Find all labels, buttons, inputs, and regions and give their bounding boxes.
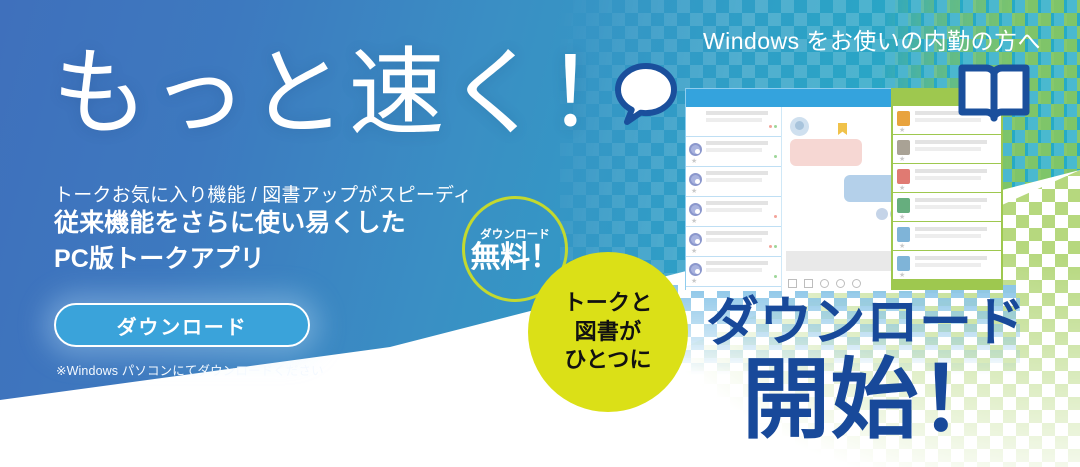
free-badge-large-label: 無料！ bbox=[470, 243, 559, 273]
download-note: ※Windows パソコンにてダウンロードください bbox=[56, 360, 324, 379]
list-item: ★ bbox=[892, 250, 1002, 280]
list-item: ★ bbox=[686, 197, 781, 227]
avatar bbox=[689, 233, 702, 246]
incoming-message-bubble bbox=[790, 139, 862, 166]
list-item: ★ bbox=[892, 221, 1002, 251]
subtitle-description: 従来機能をさらに使い易くした PC版トークアプリ bbox=[54, 206, 406, 277]
list-item: ★ bbox=[686, 137, 781, 167]
lead-text: Windows をお使いの内勤の方へ bbox=[703, 22, 1041, 56]
subtitle-line-1: 従来機能をさらに使い易くした bbox=[54, 206, 406, 242]
app-mockup-window: ★ ★ ★ ★ ★ bbox=[685, 88, 925, 290]
list-item: ★ bbox=[686, 227, 781, 257]
powerpoint-file-icon bbox=[897, 140, 910, 155]
list-item: ★ bbox=[892, 134, 1002, 164]
subtitle-line-2: PC版トークアプリ bbox=[54, 242, 406, 278]
avatar bbox=[689, 143, 702, 156]
excel-file-icon bbox=[897, 198, 910, 213]
emoji-icon[interactable] bbox=[836, 279, 845, 288]
video-icon[interactable] bbox=[804, 279, 813, 288]
combined-badge-line-1: トークと bbox=[564, 289, 653, 318]
list-item bbox=[686, 107, 781, 137]
conversation-list: ★ ★ ★ ★ ★ bbox=[686, 107, 782, 291]
pdf-file-icon bbox=[897, 169, 910, 184]
download-button[interactable]: ダウンロード bbox=[54, 303, 310, 347]
list-item: ★ bbox=[892, 192, 1002, 222]
list-item: ★ bbox=[686, 167, 781, 197]
sticker-icon[interactable] bbox=[852, 279, 861, 288]
composer-toolbar bbox=[788, 279, 861, 288]
list-item: ★ bbox=[892, 163, 1002, 193]
combined-badge: トークと 図書が ひとつに bbox=[528, 252, 688, 412]
open-book-icon bbox=[958, 62, 1030, 124]
avatar bbox=[689, 263, 702, 276]
cta-headline-line-2: 開始！ bbox=[742, 356, 1007, 444]
list-item: ★ bbox=[686, 257, 781, 287]
document-file-icon bbox=[897, 256, 910, 271]
image-icon[interactable] bbox=[788, 279, 797, 288]
combined-badge-line-3: ひとつに bbox=[564, 346, 651, 375]
app-body: ★ ★ ★ ★ ★ bbox=[686, 107, 924, 291]
speech-bubble-icon bbox=[614, 62, 678, 126]
attachment-icon[interactable] bbox=[820, 279, 829, 288]
avatar bbox=[790, 117, 809, 136]
page-title: もっと速く！ bbox=[52, 44, 645, 145]
image-file-icon bbox=[897, 111, 910, 126]
avatar bbox=[689, 203, 702, 216]
app-titlebar bbox=[686, 89, 924, 107]
cta-headline-line-1: ダウンロード bbox=[706, 296, 1026, 349]
avatar bbox=[689, 173, 702, 186]
bookmark-icon bbox=[838, 123, 847, 135]
free-badge-small-label: ダウンロード bbox=[480, 226, 550, 242]
subtitle-features: トークお気に入り機能 / 図書アップがスピーディ bbox=[54, 180, 472, 207]
promo-banner: もっと速く！ トークお気に入り機能 / 図書アップがスピーディ 従来機能をさらに… bbox=[0, 0, 1080, 467]
combined-badge-line-2: 図書が bbox=[575, 318, 642, 347]
document-file-icon bbox=[897, 227, 910, 242]
